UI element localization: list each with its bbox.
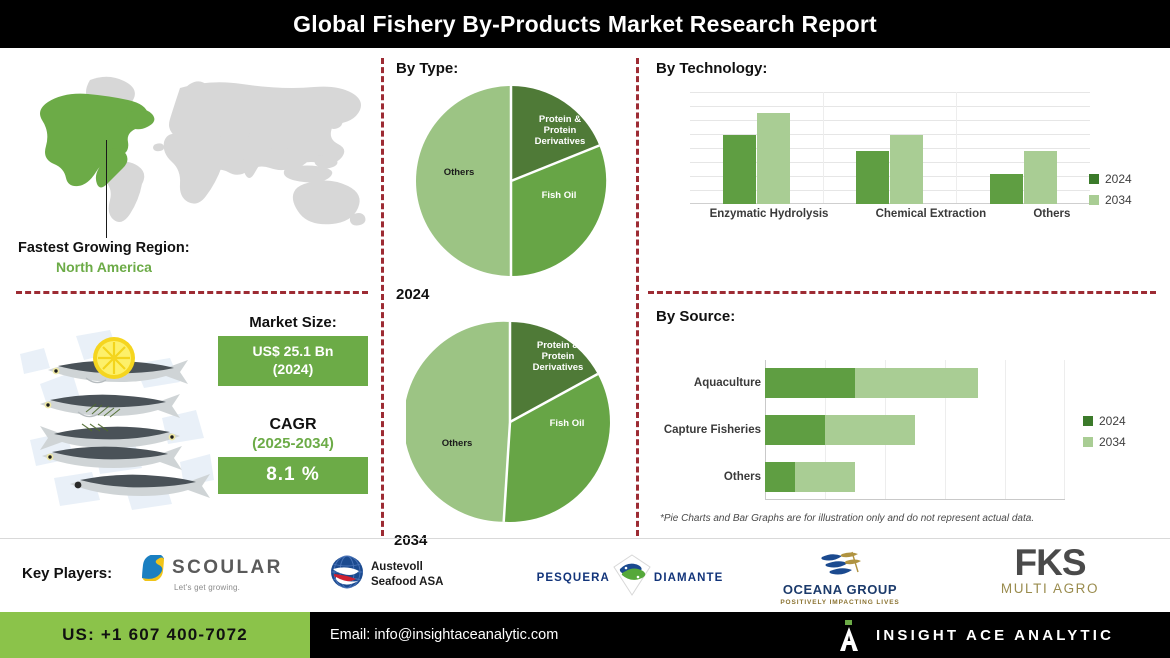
market-size-badge: US$ 25.1 Bn (2024) bbox=[218, 336, 368, 386]
logo-oceana-wordmark: OCEANA GROUP bbox=[760, 582, 920, 597]
section-title-by-source: By Source: bbox=[656, 308, 735, 325]
fish-photo-icon bbox=[14, 320, 214, 520]
bar-chart-by-technology bbox=[690, 92, 1090, 204]
logo-austevoll: Austevoll Seafood ASA bbox=[330, 555, 443, 594]
cagr-caption: CAGR bbox=[218, 416, 368, 434]
divider-horizontal-left bbox=[16, 291, 368, 294]
scoular-leaf-icon bbox=[140, 555, 166, 581]
footer-email-text: Email: info@insightaceanalytic.com bbox=[330, 627, 558, 643]
bar-group-chemical-extraction bbox=[856, 92, 923, 204]
header-rule bbox=[0, 49, 1170, 51]
legend-label-2024: 2024 bbox=[1105, 172, 1132, 186]
footer-bar: US: +1 607 400-7072 Email: info@insighta… bbox=[0, 612, 1170, 658]
market-size-value: US$ 25.1 Bn bbox=[222, 343, 364, 361]
legend-item-2034: 2034 bbox=[1083, 435, 1126, 449]
pie-chart-by-type-2034: Protein &ProteinDerivatives Fish Oil Oth… bbox=[406, 318, 614, 549]
logo-pesquera-word-left: PESQUERA bbox=[537, 572, 610, 584]
axis-label-others: Others bbox=[645, 462, 761, 492]
legend-item-2024: 2024 bbox=[1089, 172, 1132, 186]
axis-label-others: Others bbox=[1033, 208, 1070, 220]
section-title-by-technology: By Technology: bbox=[656, 60, 767, 77]
austevoll-line-1: Austevoll bbox=[371, 561, 423, 573]
bar-chart-by-source bbox=[765, 360, 1065, 500]
infographic-page: Global Fishery By-Products Market Resear… bbox=[0, 0, 1170, 658]
stacked-bar-rows bbox=[765, 360, 1065, 500]
legend-swatch-2024 bbox=[1089, 174, 1099, 184]
pie-slice-label-protein: Protein &ProteinDerivatives bbox=[516, 340, 600, 374]
segment-2034 bbox=[795, 462, 855, 492]
segment-2024 bbox=[765, 415, 825, 445]
logo-pesquera-diamante: PESQUERA DIAMANTE bbox=[540, 553, 720, 602]
legend-swatch-2034 bbox=[1089, 195, 1099, 205]
logo-oceana-group: OCEANA GROUP POSITIVELY IMPACTING LIVES bbox=[760, 551, 920, 606]
pie-year-2024: 2024 bbox=[396, 286, 608, 303]
pie-slice-label-others: Others bbox=[428, 167, 490, 178]
legend-swatch-2034 bbox=[1083, 437, 1093, 447]
stacked-bar-aquaculture bbox=[765, 368, 1065, 398]
footer-email-block[interactable]: Email: info@insightaceanalytic.com bbox=[330, 612, 558, 658]
logo-austevoll-wordmark: Austevoll Seafood ASA bbox=[371, 560, 443, 589]
legend-label-2034: 2034 bbox=[1105, 193, 1132, 207]
market-size-year: (2024) bbox=[222, 361, 364, 379]
header-bar: Global Fishery By-Products Market Resear… bbox=[0, 0, 1170, 48]
cagr-badge: 8.1 % bbox=[218, 457, 368, 494]
world-map-icon bbox=[12, 72, 372, 232]
logo-fks-tagline: MULTI AGRO bbox=[980, 581, 1120, 596]
legend-by-technology: 2024 2034 bbox=[1089, 172, 1132, 214]
bar-2034 bbox=[757, 113, 790, 204]
legend-item-2024: 2024 bbox=[1083, 414, 1126, 428]
logo-scoular: SCOULAR Let's get growing. bbox=[140, 555, 283, 581]
bar-2024 bbox=[990, 174, 1023, 204]
region-value: North America bbox=[18, 259, 358, 275]
oceana-wave-icon bbox=[816, 551, 864, 582]
footer-brand-block: INSIGHT ACE ANALYTIC bbox=[838, 612, 1114, 658]
pie-slice-label-fish-oil: Fish Oil bbox=[528, 190, 590, 201]
legend-label-2034: 2034 bbox=[1099, 435, 1126, 449]
austevoll-line-2: Seafood ASA bbox=[371, 576, 443, 588]
axis-label-enzymatic-hydrolysis: Enzymatic Hydrolysis bbox=[710, 208, 829, 220]
logo-fks-multi-agro: FKS MULTI AGRO bbox=[980, 545, 1120, 596]
pesquera-fish-diamond-icon bbox=[612, 553, 652, 602]
bar-chart-category-labels: Enzymatic Hydrolysis Chemical Extraction… bbox=[686, 208, 1094, 220]
divider-horizontal-right bbox=[648, 291, 1156, 294]
players-divider bbox=[0, 538, 1170, 539]
market-size-caption: Market Size: bbox=[218, 314, 368, 331]
logo-oceana-tagline: POSITIVELY IMPACTING LIVES bbox=[760, 599, 920, 606]
source-category-labels: Aquaculture Capture Fisheries Others bbox=[645, 360, 761, 500]
pie-slice-label-fish-oil: Fish Oil bbox=[536, 418, 598, 429]
footer-phone-block[interactable]: US: +1 607 400-7072 bbox=[0, 612, 310, 658]
legend-label-2024: 2024 bbox=[1099, 414, 1126, 428]
segment-2024 bbox=[765, 368, 855, 398]
legend-item-2034: 2034 bbox=[1089, 193, 1132, 207]
segment-2034 bbox=[825, 415, 915, 445]
bar-2024 bbox=[723, 135, 756, 204]
axis-label-aquaculture: Aquaculture bbox=[645, 368, 761, 398]
logo-scoular-tagline: Let's get growing. bbox=[174, 583, 240, 592]
stacked-bar-others bbox=[765, 462, 1065, 492]
key-players-row: Key Players: SCOULAR Let's get growing. bbox=[0, 545, 1170, 609]
region-label: Fastest Growing Region: bbox=[18, 240, 358, 256]
chart-disclaimer: *Pie Charts and Bar Graphs are for illus… bbox=[660, 513, 1034, 524]
logo-scoular-wordmark: SCOULAR bbox=[172, 557, 283, 579]
axis-label-capture-fisheries: Capture Fisheries bbox=[645, 415, 761, 445]
divider-vertical-right bbox=[636, 58, 639, 536]
axis-label-chemical-extraction: Chemical Extraction bbox=[876, 208, 987, 220]
segment-2034 bbox=[855, 368, 978, 398]
fastest-growing-region-block: Fastest Growing Region: North America bbox=[18, 240, 358, 275]
cagr-period: (2025-2034) bbox=[218, 435, 368, 452]
key-players-label: Key Players: bbox=[22, 565, 112, 582]
legend-by-source: 2024 2034 bbox=[1083, 414, 1126, 456]
insight-ace-a-icon bbox=[838, 620, 860, 650]
page-title: Global Fishery By-Products Market Resear… bbox=[293, 11, 877, 38]
stacked-bar-capture-fisheries bbox=[765, 415, 1065, 445]
map-pointer-line bbox=[106, 140, 107, 238]
bar-groups bbox=[690, 92, 1090, 204]
pie-chart-by-type-2024: Protein &ProteinDerivatives Fish Oil Oth… bbox=[414, 84, 608, 303]
pie-slice-label-others: Others bbox=[426, 438, 488, 449]
austevoll-globe-icon bbox=[330, 555, 364, 594]
logo-fks-wordmark: FKS bbox=[980, 545, 1120, 580]
pie-slice-label-protein: Protein &ProteinDerivatives bbox=[518, 114, 602, 148]
divider-vertical-left bbox=[381, 58, 384, 536]
logo-pesquera-word-right: DIAMANTE bbox=[654, 572, 724, 584]
bar-group-others bbox=[990, 92, 1057, 204]
bar-2034 bbox=[1024, 151, 1057, 204]
bar-2024 bbox=[856, 151, 889, 204]
footer-phone-text: US: +1 607 400-7072 bbox=[62, 625, 248, 645]
stats-column: Market Size: US$ 25.1 Bn (2024) CAGR (20… bbox=[218, 314, 368, 494]
legend-swatch-2024 bbox=[1083, 416, 1093, 426]
section-title-by-type: By Type: bbox=[396, 60, 458, 77]
bar-2034 bbox=[890, 135, 923, 204]
footer-brand-text: INSIGHT ACE ANALYTIC bbox=[876, 627, 1114, 644]
bar-group-enzymatic-hydrolysis bbox=[723, 92, 790, 204]
segment-2024 bbox=[765, 462, 795, 492]
